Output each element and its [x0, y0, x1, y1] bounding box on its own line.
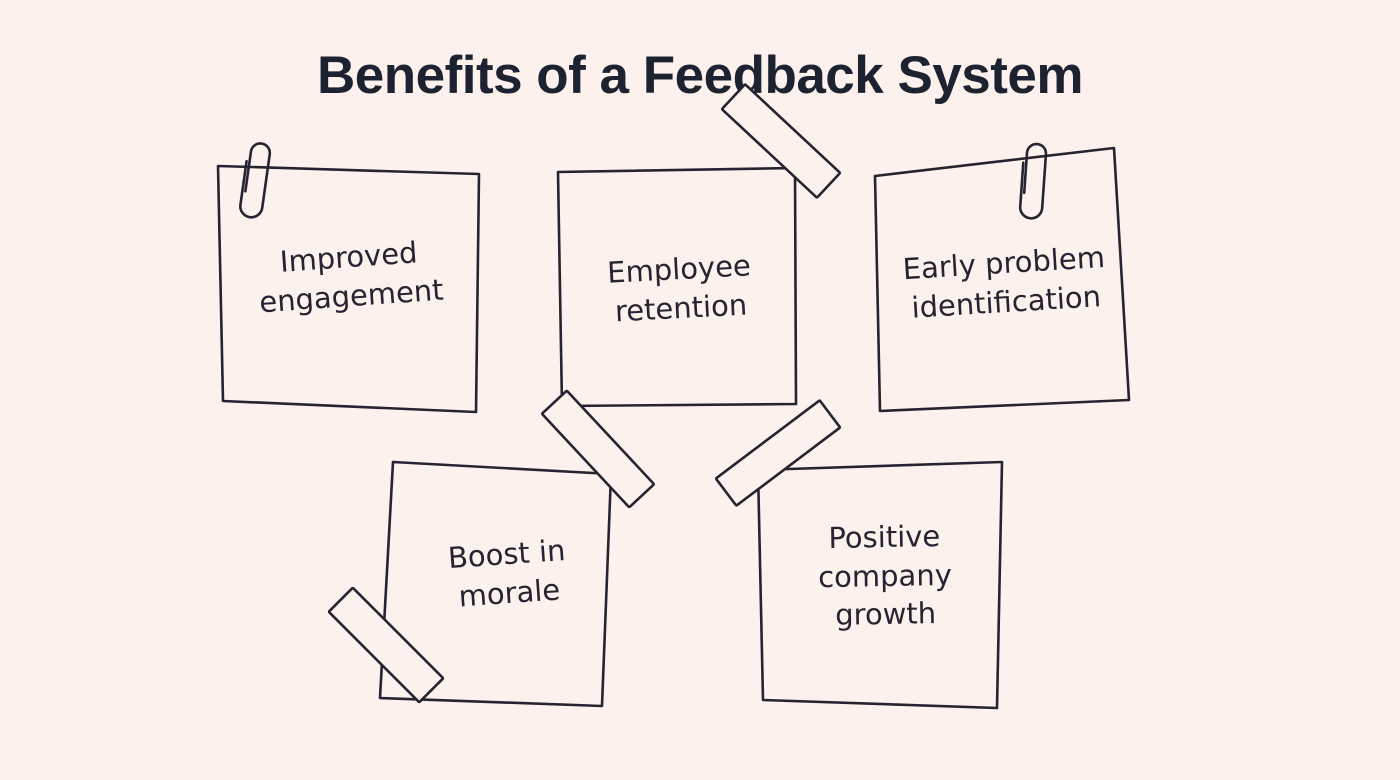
note-card-boost-in-morale[interactable]: Boost in morale [330, 440, 660, 740]
note-card-improved-engagement[interactable]: Improved engagement [200, 130, 500, 430]
note-card-employee-retention[interactable]: Employee retention [530, 128, 840, 428]
note-paper-shape [715, 440, 1035, 740]
note-paper-shape [850, 130, 1160, 430]
note-paper-shape [200, 130, 500, 430]
note-paper-shape [330, 440, 660, 740]
note-paper-shape [530, 128, 840, 428]
infographic-canvas: Benefits of a Feedback System Improved e… [0, 0, 1400, 780]
note-card-positive-company-growth[interactable]: Positive company growth [715, 440, 1035, 740]
page-title: Benefits of a Feedback System [0, 47, 1400, 105]
note-card-early-problem-identification[interactable]: Early problem identification [850, 130, 1160, 430]
